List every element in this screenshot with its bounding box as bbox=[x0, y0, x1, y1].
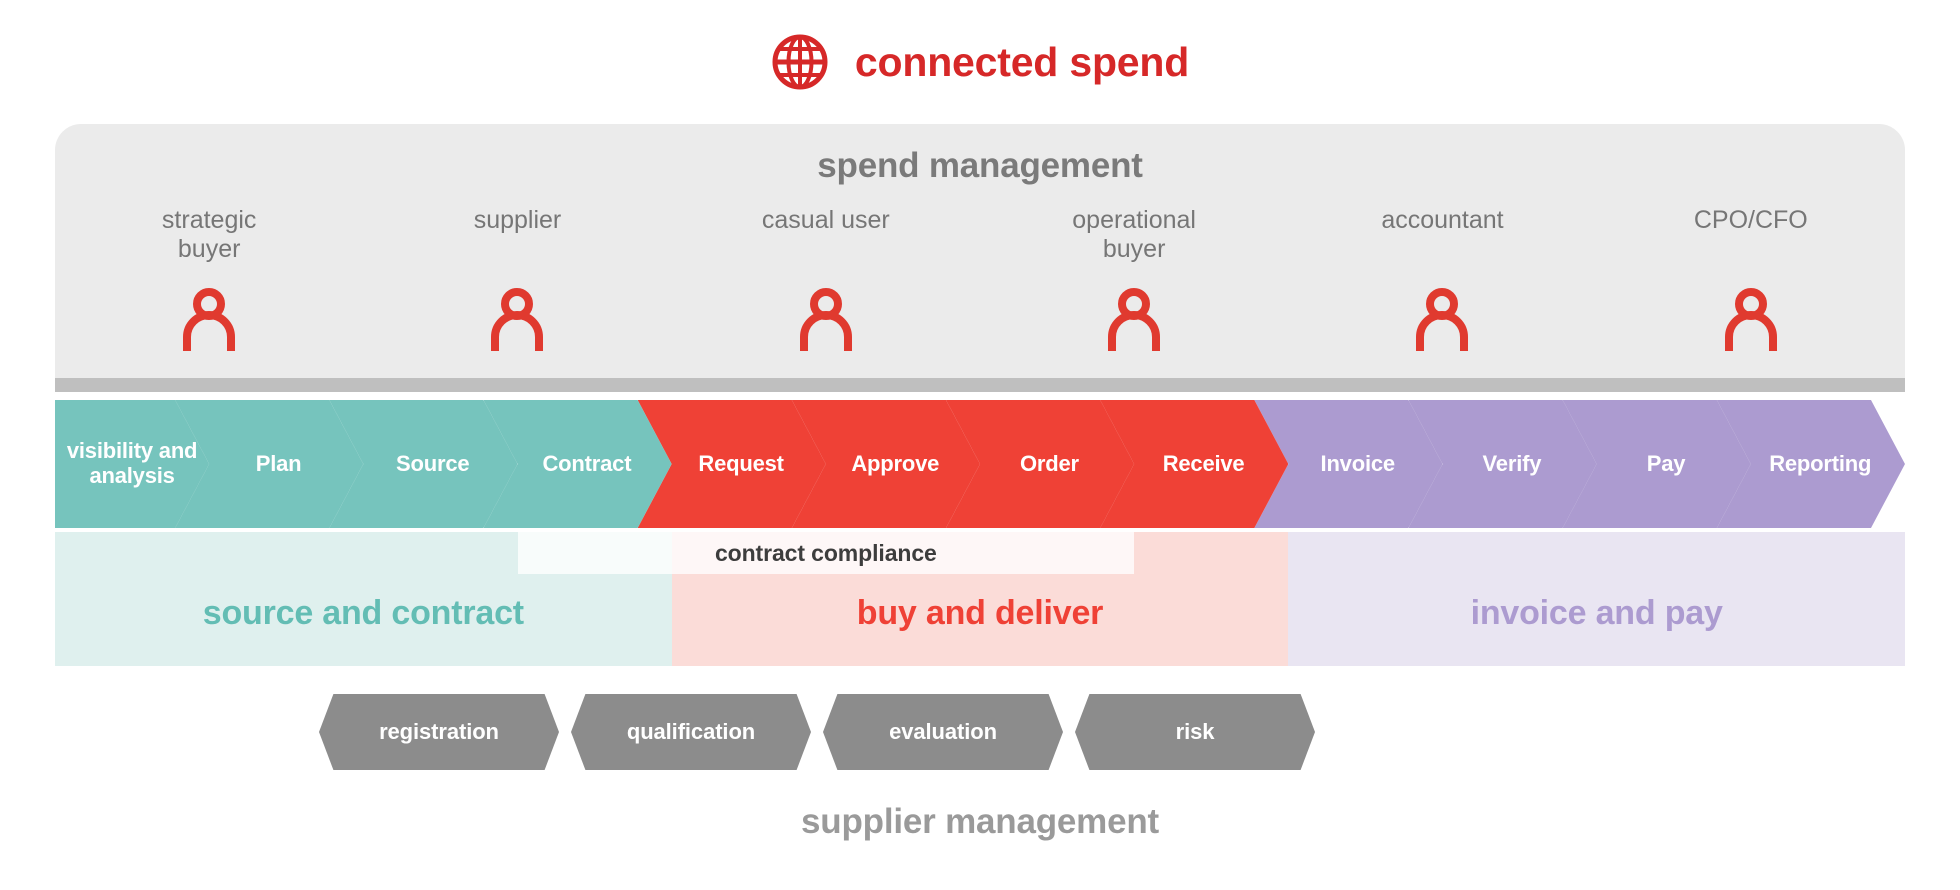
supplier-step-label: evaluation bbox=[889, 719, 997, 745]
process-step-label: visibility and analysis bbox=[67, 439, 197, 488]
phase-label: source and contract bbox=[203, 594, 524, 633]
persona-0: strategic buyer bbox=[55, 206, 363, 356]
person-icon bbox=[1414, 287, 1470, 356]
contract-compliance-band: contract compliance bbox=[518, 532, 1135, 574]
process-step-label: Request bbox=[698, 452, 783, 477]
process-step-label: Reporting bbox=[1769, 452, 1871, 477]
process-step-label: Pay bbox=[1647, 452, 1686, 477]
persona-row: strategic buyersuppliercasual useroperat… bbox=[55, 206, 1905, 356]
process-step-label: Receive bbox=[1163, 452, 1245, 477]
phase-label: buy and deliver bbox=[857, 594, 1103, 633]
persona-label: supplier bbox=[474, 206, 562, 235]
supplier-step-0[interactable]: registration bbox=[319, 694, 559, 770]
spend-management-panel: spend management strategic buyersupplier… bbox=[55, 124, 1905, 392]
process-step-label: Plan bbox=[256, 452, 302, 477]
supplier-step-label: risk bbox=[1176, 719, 1215, 745]
persona-label: strategic buyer bbox=[162, 206, 256, 264]
person-icon bbox=[1723, 287, 1779, 356]
supplier-step-2[interactable]: evaluation bbox=[823, 694, 1063, 770]
persona-1: supplier bbox=[363, 206, 671, 356]
spend-management-title: spend management bbox=[55, 146, 1905, 186]
persona-4: accountant bbox=[1288, 206, 1596, 356]
process-step-label: Verify bbox=[1483, 452, 1542, 477]
supplier-step-3[interactable]: risk bbox=[1075, 694, 1315, 770]
phase-label: invoice and pay bbox=[1471, 594, 1723, 633]
ground-bar bbox=[55, 378, 1905, 392]
supplier-management-row: registrationqualificationevaluationrisk bbox=[55, 694, 1905, 770]
persona-3: operational buyer bbox=[980, 206, 1288, 356]
person-icon bbox=[1106, 287, 1162, 356]
brand-title: connected spend bbox=[855, 42, 1189, 83]
brand-header: connected spend bbox=[0, 26, 1960, 98]
supplier-step-label: registration bbox=[379, 719, 499, 745]
phase-band-2: invoice and pay bbox=[1288, 532, 1905, 666]
supplier-step-label: qualification bbox=[627, 719, 755, 745]
globe-icon bbox=[771, 33, 829, 91]
persona-label: casual user bbox=[762, 206, 890, 235]
process-step-label: Contract bbox=[542, 452, 631, 477]
persona-2: casual user bbox=[672, 206, 980, 356]
persona-label: operational buyer bbox=[1072, 206, 1196, 264]
process-step-label: Source bbox=[396, 452, 469, 477]
contract-compliance-label: contract compliance bbox=[715, 540, 937, 567]
persona-5: CPO/CFO bbox=[1597, 206, 1905, 356]
process-step-label: Approve bbox=[851, 452, 939, 477]
process-step-label: Order bbox=[1020, 452, 1079, 477]
person-icon bbox=[798, 287, 854, 356]
process-flow: visibility and analysisPlanSourceContrac… bbox=[55, 400, 1905, 528]
process-step-label: Invoice bbox=[1321, 452, 1395, 477]
persona-label: CPO/CFO bbox=[1694, 206, 1808, 235]
supplier-management-title: supplier management bbox=[0, 802, 1960, 842]
person-icon bbox=[181, 287, 237, 356]
persona-label: accountant bbox=[1381, 206, 1503, 235]
supplier-step-1[interactable]: qualification bbox=[571, 694, 811, 770]
person-icon bbox=[489, 287, 545, 356]
